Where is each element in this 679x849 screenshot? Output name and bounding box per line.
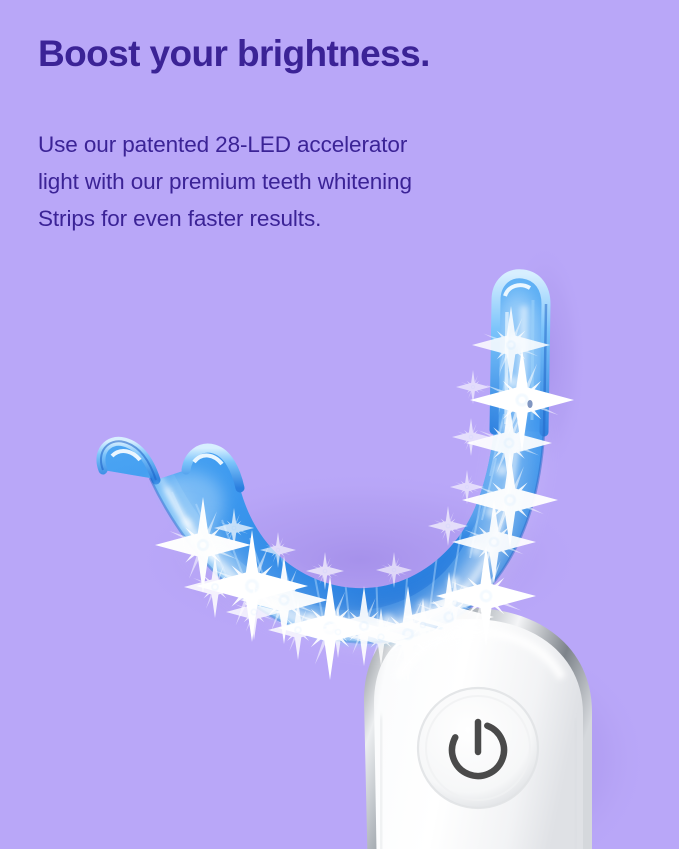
body-copy: Use our patented 28-LED accelerator ligh… bbox=[38, 126, 518, 237]
copy-block: Boost your brightness. Use our patented … bbox=[38, 30, 578, 237]
body-line-1: Use our patented 28-LED accelerator bbox=[38, 126, 518, 163]
tray-speck bbox=[527, 400, 532, 408]
promo-banner: Boost your brightness. Use our patented … bbox=[0, 0, 679, 849]
body-line-3: Strips for even faster results. bbox=[38, 200, 518, 237]
page-title: Boost your brightness. bbox=[38, 30, 578, 78]
body-line-2: light with our premium teeth whitening bbox=[38, 163, 518, 200]
